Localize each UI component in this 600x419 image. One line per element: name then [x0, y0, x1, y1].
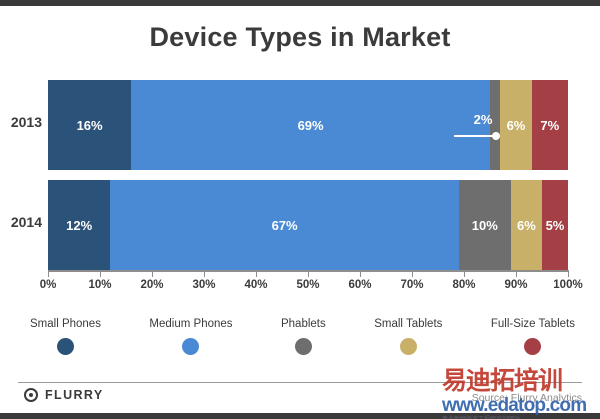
x-axis-tick-label: 10%: [88, 279, 111, 291]
x-axis-tick: [100, 270, 101, 277]
bar-segment-label: 5%: [546, 218, 565, 233]
x-axis-tick-label: 60%: [348, 279, 371, 291]
legend-swatch: [182, 338, 199, 355]
x-axis-tick: [152, 270, 153, 277]
legend-swatch: [524, 338, 541, 355]
legend-item-label: Small Phones: [30, 318, 101, 330]
x-axis-tick-label: 100%: [553, 279, 582, 291]
x-axis-tick: [360, 270, 361, 277]
bar-segment-label: 69%: [298, 118, 324, 133]
bar-segment-full-size-tablets-2013[interactable]: 7%: [532, 80, 568, 170]
bar-segment-small-tablets-2014[interactable]: 6%: [511, 180, 542, 270]
source-note: Source: Flurry Analytics: [472, 392, 582, 404]
bar-segment-small-phones-2014[interactable]: 12%: [48, 180, 110, 270]
legend-item[interactable]: Phablets: [281, 318, 326, 355]
bar-segment-phablets-2013[interactable]: 2%: [490, 80, 500, 170]
bar-segment-small-phones-2013[interactable]: 16%: [48, 80, 131, 170]
x-axis-tick-label: 50%: [296, 279, 319, 291]
legend-swatch: [57, 338, 74, 355]
bar-segment-medium-phones-2013[interactable]: 69%: [131, 80, 490, 170]
bottom-border-strip: [0, 413, 600, 419]
legend-item[interactable]: Medium Phones: [149, 318, 232, 355]
bar-segment-label: 6%: [517, 218, 536, 233]
x-axis-tick: [204, 270, 205, 277]
flurry-logo-text: FLURRY: [45, 388, 104, 402]
legend-item[interactable]: Small Phones: [30, 318, 101, 355]
chart-title: Device Types in Market: [0, 22, 600, 53]
x-axis: 0%10%20%30%40%50%60%70%80%90%100%: [48, 270, 568, 300]
legend-item[interactable]: Small Tablets: [374, 318, 442, 355]
bar-segment-small-tablets-2013[interactable]: 6%: [500, 80, 531, 170]
x-axis-tick: [516, 270, 517, 277]
x-axis-tick-label: 70%: [400, 279, 423, 291]
chart-page: Device Types in Market 2013 2014 16% 69%…: [0, 0, 600, 419]
bar-segment-label: 6%: [507, 118, 526, 133]
x-axis-tick: [256, 270, 257, 277]
x-axis-tick: [308, 270, 309, 277]
x-axis-tick-label: 20%: [140, 279, 163, 291]
flurry-logo-icon: [24, 388, 38, 402]
legend-item-label: Full-Size Tablets: [491, 318, 575, 330]
bar-segment-label: 16%: [77, 118, 103, 133]
category-label-2013: 2013: [2, 114, 42, 130]
x-axis-tick: [48, 270, 49, 277]
bar-segment-phablets-2014[interactable]: 10%: [459, 180, 511, 270]
legend-item-label: Medium Phones: [149, 318, 232, 330]
chart-legend: Small PhonesMedium PhonesPhabletsSmall T…: [30, 318, 575, 355]
stacked-bar-2013: 16% 69% 2% 6% 7% 2%: [48, 80, 568, 170]
legend-swatch: [295, 338, 312, 355]
x-axis-tick-label: 80%: [452, 279, 475, 291]
bar-segment-label: 67%: [272, 218, 298, 233]
bar-segment-label: 10%: [472, 218, 498, 233]
legend-item-label: Phablets: [281, 318, 326, 330]
legend-item-label: Small Tablets: [374, 318, 442, 330]
legend-item[interactable]: Full-Size Tablets: [491, 318, 575, 355]
x-axis-tick-label: 0%: [40, 279, 57, 291]
bar-segment-medium-phones-2014[interactable]: 67%: [110, 180, 458, 270]
top-border-strip: [0, 0, 600, 6]
stacked-bar-2014: 12% 67% 10% 6% 5%: [48, 180, 568, 270]
flurry-logo: FLURRY: [24, 388, 104, 402]
x-axis-tick-label: 40%: [244, 279, 267, 291]
footer-divider: [18, 382, 582, 383]
bar-segment-label: 12%: [66, 218, 92, 233]
x-axis-tick: [464, 270, 465, 277]
x-axis-tick: [412, 270, 413, 277]
watermark-chinese-text: 易迪拓培训: [442, 368, 562, 394]
bar-segment-full-size-tablets-2014[interactable]: 5%: [542, 180, 568, 270]
x-axis-tick-label: 30%: [192, 279, 215, 291]
legend-swatch: [400, 338, 417, 355]
bar-segment-label: 7%: [540, 118, 559, 133]
plot-area: 2013 2014 16% 69% 2% 6% 7% 2%: [48, 80, 568, 270]
category-label-2014: 2014: [2, 214, 42, 230]
x-axis-tick: [568, 270, 569, 277]
x-axis-tick-label: 90%: [504, 279, 527, 291]
